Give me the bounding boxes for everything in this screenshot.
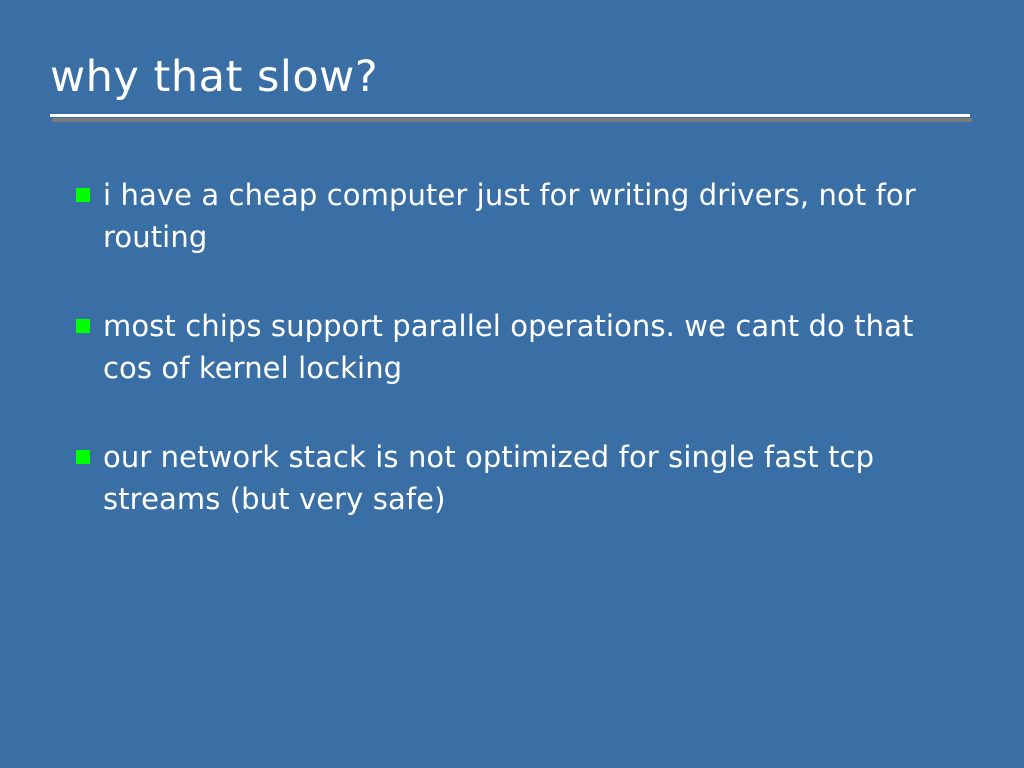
slide-title-block: why that slow?	[50, 52, 970, 102]
list-item-text: most chips support parallel operations. …	[103, 305, 948, 389]
list-item: i have a cheap computer just for writing…	[76, 174, 976, 258]
slide-body: i have a cheap computer just for writing…	[76, 174, 976, 520]
list-item-text: our network stack is not optimized for s…	[103, 436, 948, 520]
square-bullet-icon	[76, 450, 90, 464]
list-item-text: i have a cheap computer just for writing…	[103, 174, 948, 258]
square-bullet-icon	[76, 188, 90, 202]
page-title: why that slow?	[50, 52, 970, 102]
square-bullet-icon	[76, 319, 90, 333]
title-divider	[50, 114, 970, 117]
presentation-slide: why that slow? i have a cheap computer j…	[0, 0, 1024, 768]
list-item: our network stack is not optimized for s…	[76, 436, 976, 520]
list-item: most chips support parallel operations. …	[76, 305, 976, 389]
title-divider-shadow	[52, 118, 972, 122]
